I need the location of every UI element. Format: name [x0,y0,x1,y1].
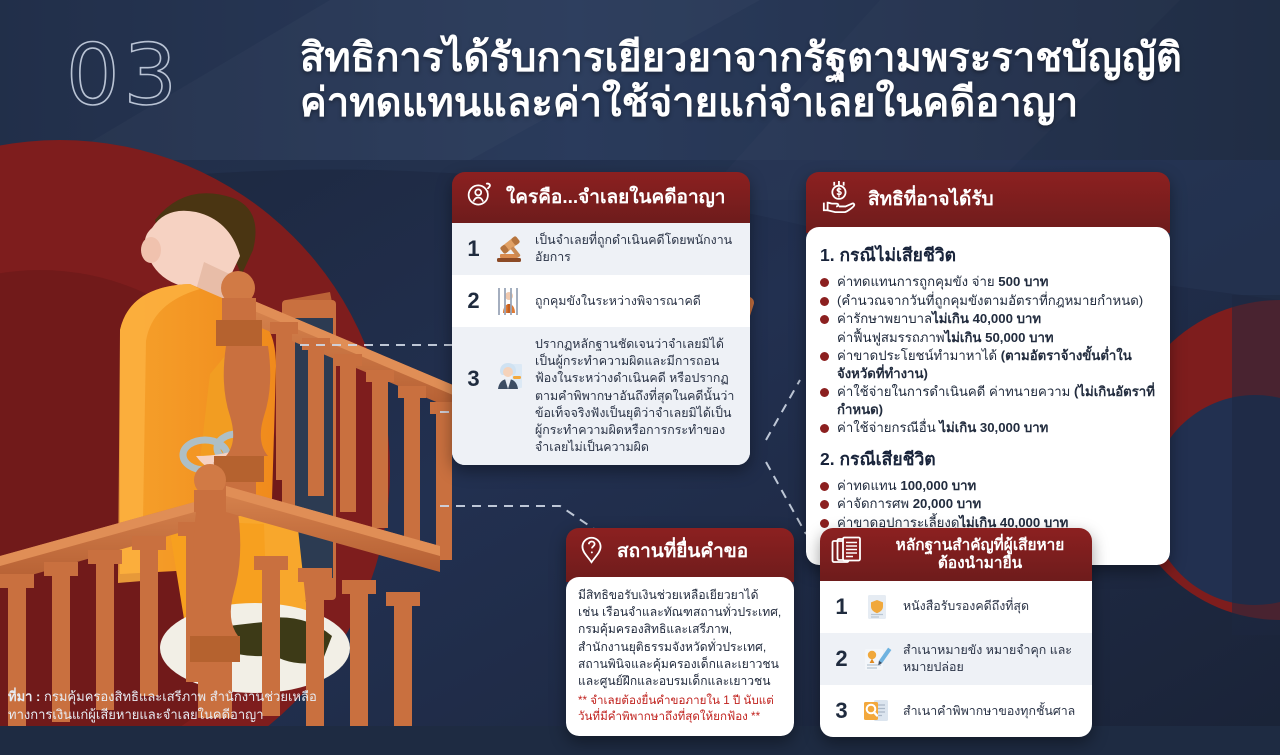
benefit-text: (คำนวณจากวันที่ถูกคุมขังตามอัตราที่กฎหมา… [837,293,1143,308]
list-item: 2 สำเนาหมายขัง หมายจำคุก และหมายป [820,633,1092,685]
benefit-text: ค่าทดแทนการถูกคุมขัง จ่าย [837,274,998,289]
card-body-defendant: 1 เป็นจำเลยที่ถูกดำเนินคดีโดยพนักงานอัยก… [452,223,750,465]
card-title-benefits: สิทธิที่อาจได้รับ [868,189,994,211]
card-possible-benefits: สิทธิที่อาจได้รับ 1. กรณีไม่เสียชีวิต ค่… [806,172,1170,565]
benefit-item: ค่าใช้จ่ายในการดำเนินคดี ค่าทนายความ (ไม… [820,383,1156,418]
card-body-documents: 1 หนังสือรับรองคดีถึงที่สุด 2 [820,581,1092,737]
list-item: 1 หนังสือรับรองคดีถึงที่สุด [820,581,1092,633]
row-text: สำเนาคำพิพากษาของทุกชั้นศาล [903,703,1075,720]
benefit-text: ค่าทดแทน [837,478,900,493]
row-number: 1 [464,236,483,262]
benefit-item: ค่าฟื้นฟูสมรรถภาพไม่เกิน 50,000 บาท [820,329,1156,347]
card-title-place: สถานที่ยื่นคำขอ [617,541,748,563]
benefit-text: ค่ารักษาพยาบาล [837,311,932,326]
magnifier-doc-icon [860,694,894,728]
list-item: 2 ถูกคุมขังในระหว่างพิจารณาคดี [452,275,750,327]
list-item: 1 เป็นจำเลยที่ถูกดำเนินคดีโดยพนักงานอัยก… [452,223,750,275]
certificate-icon [860,590,894,624]
place-body-text: มีสิทธิขอรับเงินช่วยเหลือเยียวยาได้ เช่น… [578,587,782,690]
row-text: หนังสือรับรองคดีถึงที่สุด [903,598,1029,615]
benefit-amount: ไม่เกิน 30,000 บาท [939,420,1048,435]
card-title-documents-line1: หลักฐานสำคัญที่ผู้เสียหาย [896,537,1065,554]
benefit-item: ค่าใช้จ่ายกรณีอื่น ไม่เกิน 30,000 บาท [820,419,1156,437]
benefit-amount: 500 บาท [998,274,1048,289]
card-title-documents: หลักฐานสำคัญที่ผู้เสียหาย ต้องนำมายื่น [878,537,1082,572]
card-application-place: สถานที่ยื่นคำขอ มีสิทธิขอรับเงินช่วยเหลื… [566,528,794,736]
benefit-item: ค่าจัดการศพ 20,000 บาท [820,495,1156,513]
gavel-icon [492,232,526,266]
row-text: สำเนาหมายขัง หมายจำคุก และหมายปล่อย [903,642,1080,676]
warrant-pen-icon [860,642,894,676]
card-body-place: มีสิทธิขอรับเงินช่วยเหลือเยียวยาได้ เช่น… [566,577,794,736]
section-heading-alive: 1. กรณีไม่เสียชีวิต [820,241,1156,269]
documents-stack-icon [830,535,866,574]
prison-bars-icon [492,284,526,318]
source-label: ที่มา : [8,689,40,704]
benefit-text: ค่าจัดการศพ [837,496,913,511]
section-number: 03 [66,33,181,117]
benefit-text: ค่าฟื้นฟูสมรรถภาพ [837,330,945,345]
benefit-text: ค่าใช้จ่ายในการดำเนินคดี ค่าทนายความ [837,384,1074,399]
benefit-item: ค่าทดแทนการถูกคุมขัง จ่าย 500 บาท [820,273,1156,291]
judge-icon [492,358,526,392]
card-header-benefits: สิทธิที่อาจได้รับ [806,172,1170,233]
page-title: สิทธิการได้รับการเยียวยาจากรัฐตามพระราชบ… [300,36,1240,126]
benefit-amount: ไม่เกิน 40,000 บาท [932,311,1041,326]
list-item: 3 ปรากฏหลักฐานชัดเจนว่าจำเลยมิได้เป็นผู้… [452,327,750,465]
row-number: 3 [464,366,483,392]
card-header-place: สถานที่ยื่นคำขอ [566,528,794,582]
benefit-amount: ไม่เกิน 50,000 บาท [945,330,1054,345]
row-text: ปรากฏหลักฐานชัดเจนว่าจำเลยมิได้เป็นผู้กร… [535,336,738,456]
benefit-item: ค่ารักษาพยาบาลไม่เกิน 40,000 บาท [820,310,1156,328]
benefit-amount: 20,000 บาท [913,496,981,511]
source-text: กรมคุ้มครองสิทธิและเสรีภาพ สำนักงานช่วยเ… [8,689,317,722]
benefit-list-alive: ค่าทดแทนการถูกคุมขัง จ่าย 500 บาท (คำนวณ… [820,273,1156,437]
row-number: 3 [832,698,851,724]
page-header: 03 สิทธิการได้รับการเยียวยาจากรัฐตามพระร… [0,0,1280,152]
benefit-item: (คำนวณจากวันที่ถูกคุมขังตามอัตราที่กฎหมา… [820,292,1156,310]
card-title-documents-line2: ต้องนำมายื่น [938,555,1022,572]
card-header-defendant: ใครคือ...จำเลยในคดีอาญา [452,172,750,223]
benefit-amount: 100,000 บาท [900,478,976,493]
row-number: 2 [832,646,851,672]
place-note-text: ** จำเลยต้องยื่นคำขอภายใน 1 ปี นับแต่วัน… [578,693,782,724]
row-number: 2 [464,288,483,314]
location-pin-question-icon [578,535,605,569]
card-required-documents: หลักฐานสำคัญที่ผู้เสียหาย ต้องนำมายื่น 1… [820,528,1092,737]
card-title-defendant: ใครคือ...จำเลยในคดีอาญา [506,187,725,209]
benefit-text: ค่าขาดประโยชน์ทำมาหาได้ [837,348,1001,363]
list-item: 3 สำเนาคำพิพากษาของทุกชั้นศาล [820,685,1092,737]
card-who-is-defendant: ใครคือ...จำเลยในคดีอาญา 1 เป็นจำเลยที่ถู… [452,172,750,465]
page-title-line1: สิทธิการได้รับการเยียวยาจากรัฐตามพระราชบ… [300,36,1182,80]
row-text: ถูกคุมขังในระหว่างพิจารณาคดี [535,293,701,310]
page-title-line2: ค่าทดแทนและค่าใช้จ่ายแก่จำเลยในคดีอาญา [300,81,1240,126]
source-credit: ที่มา : กรมคุ้มครองสิทธิและเสรีภาพ สำนัก… [8,688,338,724]
row-text: เป็นจำเลยที่ถูกดำเนินคดีโดยพนักงานอัยการ [535,232,738,266]
section-heading-deceased: 2. กรณีเสียชีวิต [820,445,1156,473]
card-body-benefits: 1. กรณีไม่เสียชีวิต ค่าทดแทนการถูกคุมขัง… [806,227,1170,565]
hand-money-icon [820,180,856,219]
benefit-text: ค่าใช้จ่ายกรณีอื่น [837,420,939,435]
person-question-icon [466,181,494,214]
card-header-documents: หลักฐานสำคัญที่ผู้เสียหาย ต้องนำมายื่น [820,528,1092,581]
benefit-item: ค่าขาดประโยชน์ทำมาหาได้ (ตามอัตราจ้างขั้… [820,347,1156,382]
benefit-item: ค่าทดแทน 100,000 บาท [820,477,1156,495]
row-number: 1 [832,594,851,620]
